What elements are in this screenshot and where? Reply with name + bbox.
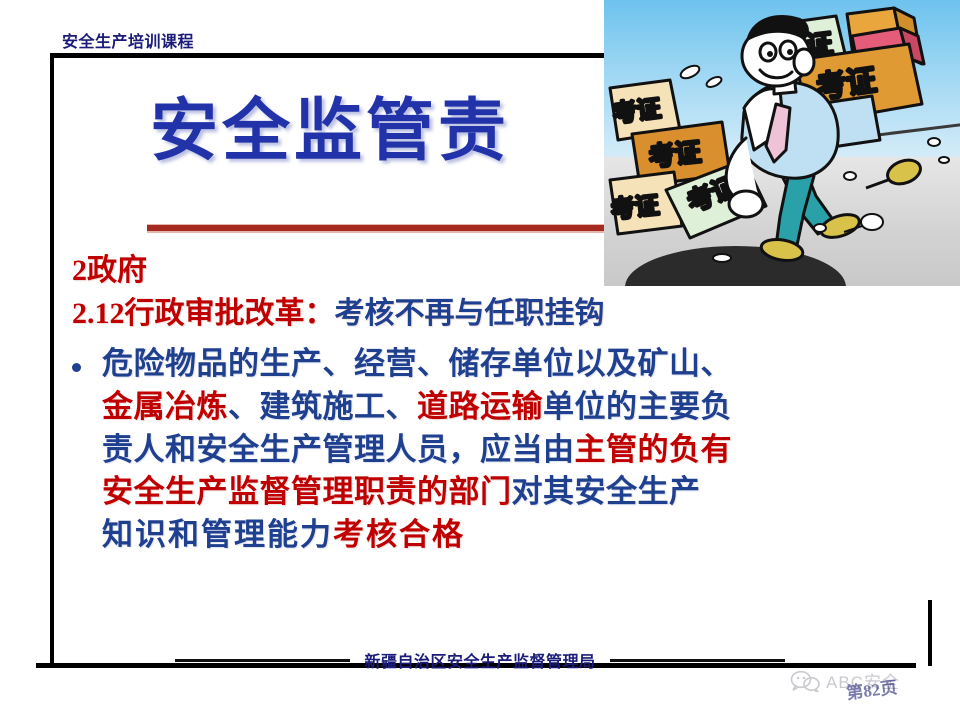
bullet-paragraph: 危险物品的生产、经营、储存单位以及矿山、金属冶炼、建筑施工、道路运输单位的主要负… <box>72 343 942 557</box>
wechat-icon <box>790 670 820 692</box>
illustration-figure: 考证 考证 考证 考证 考证 考证 <box>604 0 960 286</box>
sign-label-5: 考证 <box>610 192 661 224</box>
heading-subsection: 2.12行政审批改革：考核不再与任职挂钩 <box>72 293 942 336</box>
bullet-line-4: 安全生产监督管理职责的部门对其安全生产 <box>102 471 942 514</box>
bullet-line-3-run-2: 主管的负有 <box>575 432 733 467</box>
bullet-line-4-run-2: 对其安全生产 <box>512 474 701 509</box>
course-label: 安全生产培训课程 <box>62 28 194 52</box>
bullet-line-3-run-1: 责人和安全生产管理人员，应当由 <box>102 432 575 467</box>
bullet-line-2: 金属冶炼、建筑施工、道路运输单位的主要负 <box>102 386 942 429</box>
presentation-slide: 安全生产培训课程 安全监管责 2政府 2.12行政审批改革：考核不再与任职挂钩 … <box>0 0 960 720</box>
bullet-dot-icon <box>72 343 102 372</box>
footer-rule-right <box>610 659 785 662</box>
bullet-paragraph-text: 危险物品的生产、经营、储存单位以及矿山、金属冶炼、建筑施工、道路运输单位的主要负… <box>102 343 942 557</box>
cartoon-illustration: 考证 考证 考证 考证 考证 考证 <box>604 0 960 286</box>
bullet-line-3: 责人和安全生产管理人员，应当由主管的负有 <box>102 429 942 472</box>
page-number: 第82页 <box>845 673 899 704</box>
slide-body: 2政府 2.12行政审批改革：考核不再与任职挂钩 危险物品的生产、经营、储存单位… <box>72 250 942 557</box>
bullet-line-1-run-1: 危险物品的生产、经营、储存单位以及矿山、 <box>102 346 732 381</box>
slide-frame-left-border <box>50 53 54 665</box>
footer-organization-name: 新疆自治区安全生产监督管理局 <box>364 648 595 672</box>
bullet-line-1: 危险物品的生产、经营、储存单位以及矿山、 <box>102 343 942 386</box>
bullet-line-2-run-4: 单位的主要负 <box>543 389 732 424</box>
bullet-line-4-run-1: 安全生产监督管理职责的部门 <box>102 474 512 509</box>
bullet-line-5: 知识和管理能力考核合格 <box>102 514 942 557</box>
footer-rule-left <box>175 659 350 662</box>
sign-label-4: 考证 <box>648 138 703 172</box>
bullet-line-2-run-3: 道路运输 <box>417 389 543 424</box>
bullet-line-2-run-1: 金属冶炼 <box>102 389 228 424</box>
bullet-line-5-run-1: 知识和管理能力 <box>102 517 333 552</box>
heading-2-blue-text: 考核不再与任职挂钩 <box>335 297 605 330</box>
heading-1-text: 2政府 <box>72 254 147 287</box>
bullet-line-2-run-2: 、建筑施工、 <box>228 389 417 424</box>
heading-2-red-text: 2.12行政审批改革： <box>72 297 335 330</box>
bullet-line-5-run-2: 考核合格 <box>333 517 465 552</box>
